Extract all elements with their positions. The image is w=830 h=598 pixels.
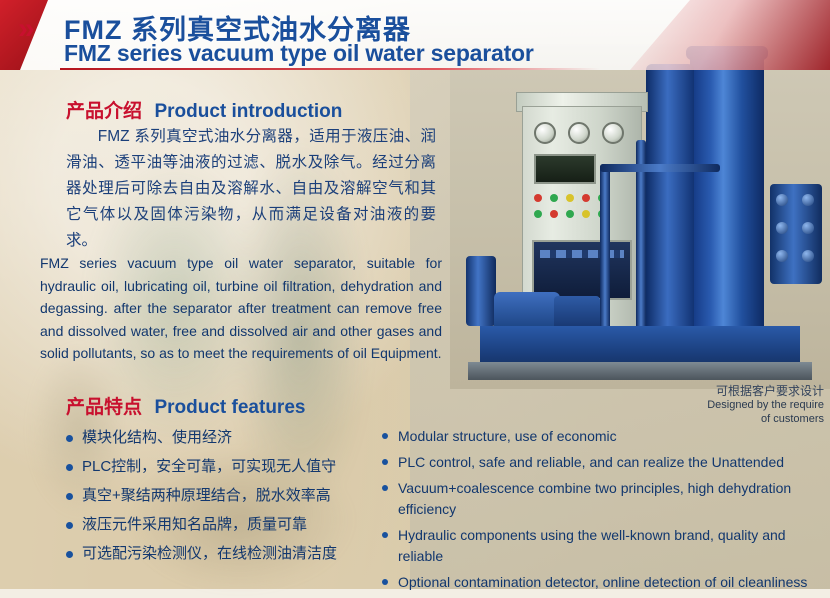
features-heading-cn: 产品特点 — [66, 397, 142, 418]
list-item: PLC控制，安全可靠，可实现无人值守 — [66, 455, 396, 479]
photo-pressure-gauge — [568, 122, 590, 144]
photo-manifold-bolt — [776, 194, 788, 206]
photo-caption-en-line2: of customers — [707, 412, 824, 426]
intro-heading-en: Product introduction — [154, 101, 342, 122]
photo-pressure-gauge — [602, 122, 624, 144]
photo-manifold-bolt — [802, 222, 814, 234]
photo-manifold-bolt — [776, 250, 788, 262]
photo-filter-housing — [466, 256, 496, 326]
list-item: Modular structure, use of economic — [382, 426, 822, 447]
photo-caption-cn: 可根据客户要求设计 — [707, 384, 824, 398]
list-item: Optional contamination detector, online … — [382, 572, 822, 593]
photo-manifold-bolt — [802, 250, 814, 262]
photo-hmi-panel — [532, 240, 632, 300]
photo-pressure-gauge — [534, 122, 556, 144]
double-chevron-right-icon: » — [18, 14, 31, 44]
features-list-en: Modular structure, use of economic PLC c… — [382, 426, 822, 598]
photo-pipe — [600, 164, 720, 172]
section-title-features: 产品特点 Product features — [66, 392, 305, 419]
list-item: 液压元件采用知名品牌，质量可靠 — [66, 513, 396, 537]
photo-manifold-bolt — [776, 222, 788, 234]
list-item: Hydraulic components using the well-know… — [382, 525, 822, 567]
list-item: 可选配污染检测仪，在线检测油清洁度 — [66, 542, 396, 566]
photo-led — [566, 210, 574, 218]
photo-manifold-bolt — [802, 194, 814, 206]
photo-indicator-lights — [534, 194, 624, 228]
features-heading-en: Product features — [154, 397, 305, 418]
photo-pipe — [600, 164, 610, 334]
list-item: Vacuum+coalescence combine two principle… — [382, 478, 822, 520]
photo-led — [534, 194, 542, 202]
photo-floor-skid — [468, 362, 812, 380]
photo-display-screen — [534, 154, 596, 184]
photo-led — [550, 194, 558, 202]
intro-body-cn: FMZ 系列真空式油水分离器，适用于液压油、润滑油、透平油等油液的过滤、脱水及除… — [66, 124, 436, 254]
list-item: 真空+聚结两种原理结合，脱水效率高 — [66, 484, 396, 508]
photo-led — [550, 210, 558, 218]
intro-body-en: FMZ series vacuum type oil water separat… — [40, 252, 442, 365]
photo-secondary-tank — [646, 64, 694, 334]
product-photo — [450, 44, 830, 389]
photo-led — [566, 194, 574, 202]
intro-heading-cn: 产品介绍 — [66, 101, 142, 122]
section-title-introduction: 产品介绍 Product introduction — [66, 96, 342, 123]
photo-led — [534, 210, 542, 218]
page-header: » FMZ 系列真空式油水分离器 FMZ series vacuum type … — [0, 0, 830, 70]
features-list-cn: 模块化结构、使用经济 PLC控制，安全可靠，可实现无人值守 真空+聚结两种原理结… — [66, 426, 396, 571]
list-item: 模块化结构、使用经济 — [66, 426, 396, 450]
photo-led — [582, 194, 590, 202]
list-item: PLC control, safe and reliable, and can … — [382, 452, 822, 473]
photo-caption: 可根据客户要求设计 Designed by the require of cus… — [707, 384, 824, 426]
photo-caption-en-line1: Designed by the require — [707, 398, 824, 412]
header-underline — [60, 68, 600, 70]
header-title-en: FMZ series vacuum type oil water separat… — [64, 40, 534, 67]
photo-main-tank — [690, 52, 764, 352]
photo-led — [582, 210, 590, 218]
